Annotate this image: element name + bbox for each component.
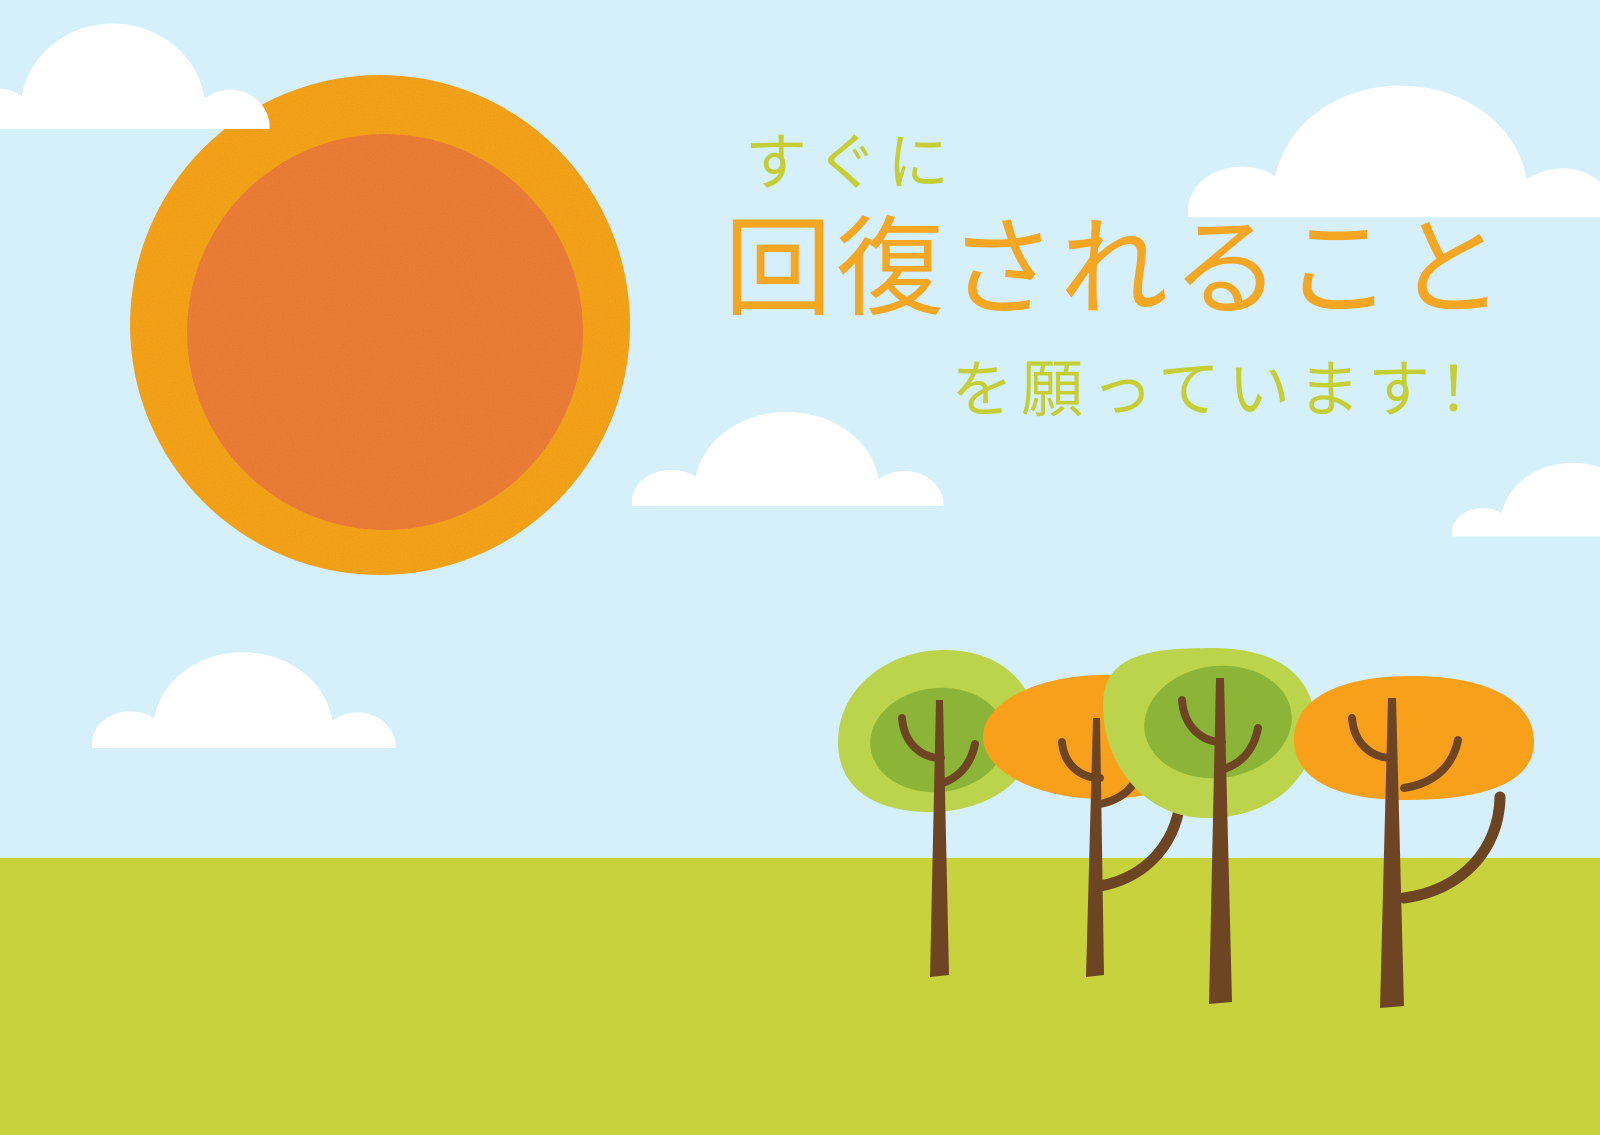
tree-4-crown [1294,676,1534,800]
ground-field [0,858,1600,1135]
sun-inner-disc [187,134,583,530]
sun [130,75,630,575]
scene-illustration [0,0,1600,1135]
greeting-card: すぐに 回復されること を願っています！ [0,0,1600,1135]
